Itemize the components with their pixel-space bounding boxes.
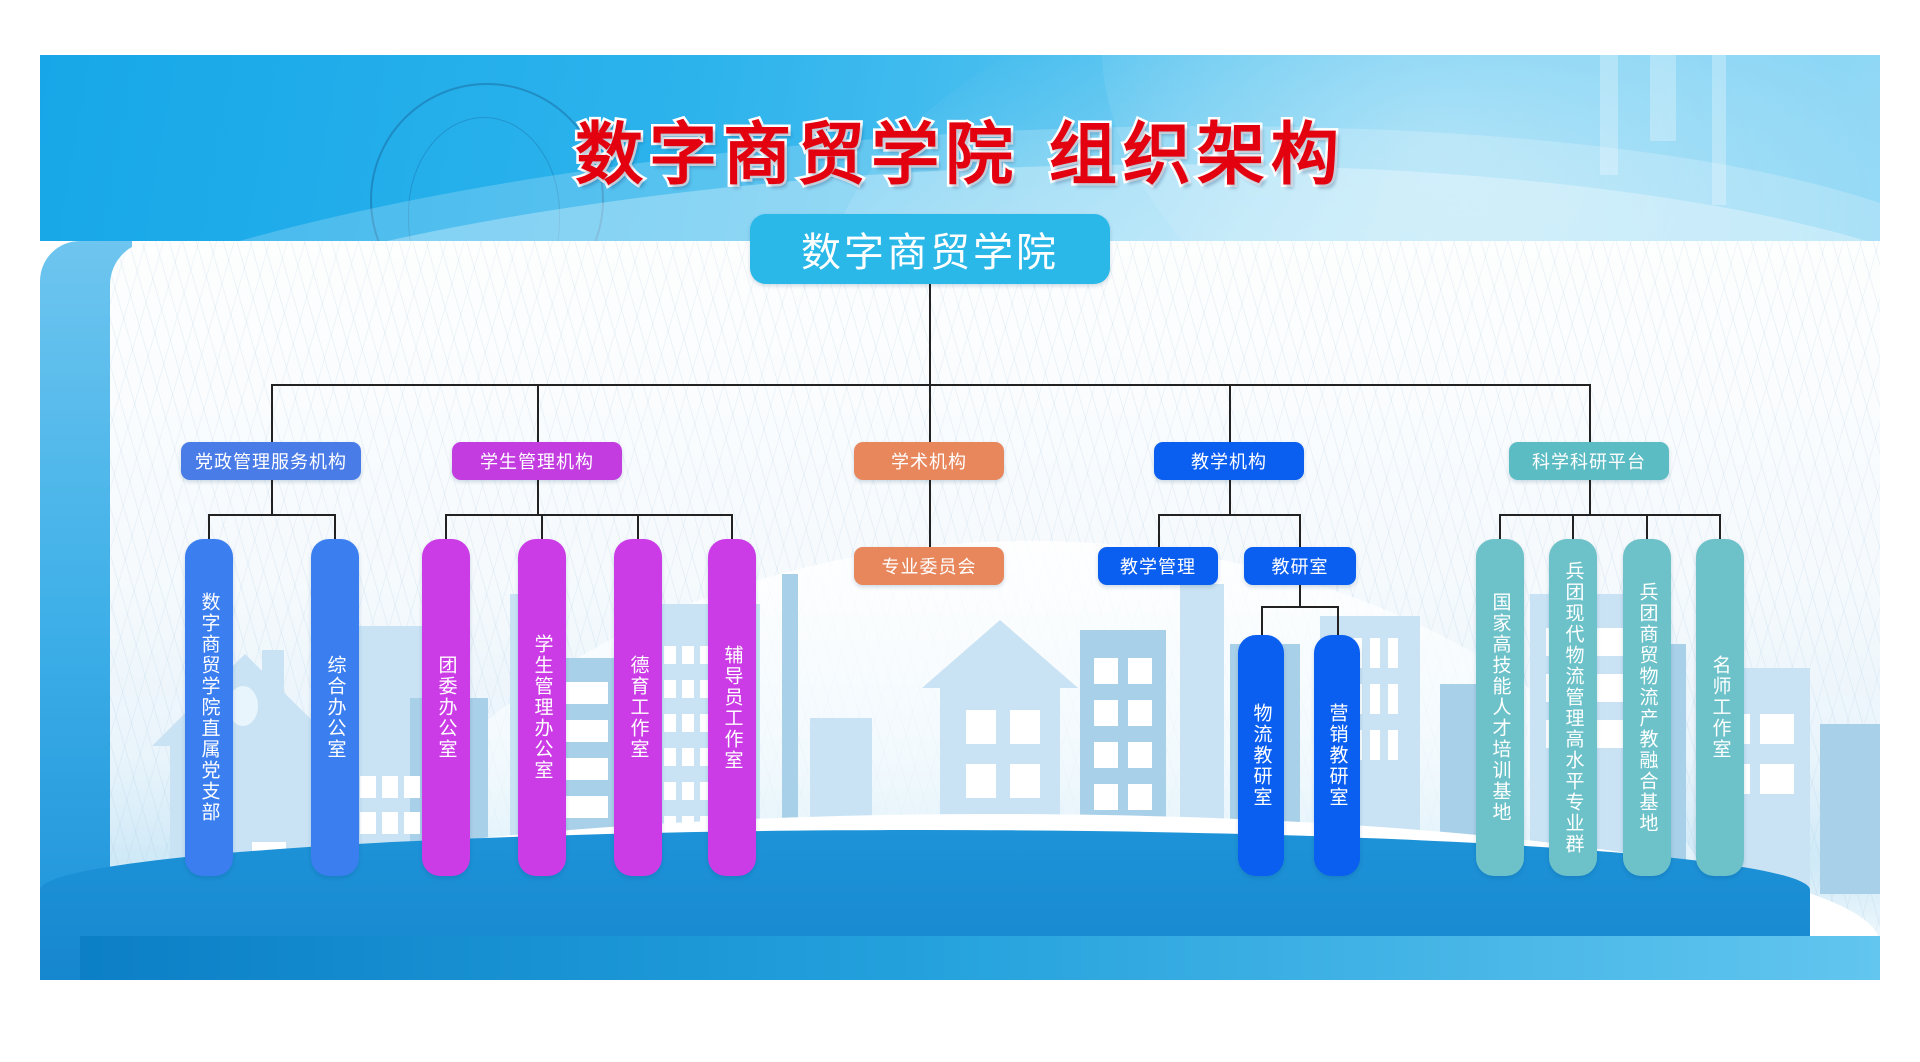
connector-b1-stem xyxy=(271,480,273,515)
org-node-research-platform[interactable]: 科学科研平台 xyxy=(1509,442,1669,480)
org-node-logistics-research[interactable]: 物流教研室 xyxy=(1238,635,1284,876)
connector-b4c2c1-drop xyxy=(1261,606,1263,635)
connector-drop-b5 xyxy=(1589,384,1591,442)
org-node-root[interactable]: 数字商贸学院 xyxy=(750,214,1110,284)
org-node-academic[interactable]: 学术机构 xyxy=(854,442,1004,480)
connector-b4c2-stem xyxy=(1299,585,1301,607)
org-node-general-office[interactable]: 综合办公室 xyxy=(311,539,359,876)
connector-b5c2-drop xyxy=(1572,514,1574,539)
org-node-teaching-management[interactable]: 教学管理 xyxy=(1098,547,1218,585)
connector-b2c3-drop xyxy=(637,514,639,539)
org-node-teaching[interactable]: 教学机构 xyxy=(1154,442,1304,480)
org-node-teaching-research-section[interactable]: 教研室 xyxy=(1244,547,1356,585)
connector-b5c3-drop xyxy=(1646,514,1648,539)
connector-b2c1-drop xyxy=(445,514,447,539)
connector-b4c2-drop xyxy=(1299,514,1301,547)
org-node-logistics-specialty-group[interactable]: 兵团现代物流管理高水平专业群 xyxy=(1549,539,1597,876)
connector-drop-b4 xyxy=(1229,384,1231,442)
connector-b1c2-drop xyxy=(334,514,336,539)
connector-drop-b2 xyxy=(537,384,539,442)
connector-b4c2-bus xyxy=(1261,606,1339,608)
org-node-industry-education-base[interactable]: 兵团商贸物流产教融合基地 xyxy=(1623,539,1671,876)
connector-b5-bus xyxy=(1499,514,1720,516)
connector-b4-stem xyxy=(1229,480,1231,515)
org-node-counselor-studio[interactable]: 辅导员工作室 xyxy=(708,539,756,876)
org-node-master-teacher-studio[interactable]: 名师工作室 xyxy=(1696,539,1744,876)
org-node-professional-committee[interactable]: 专业委员会 xyxy=(854,547,1004,585)
org-chart: 数字商贸学院 党政管理服务机构 学生管理机构 学术机构 教学机构 科学科研平台 … xyxy=(40,55,1880,980)
connector-b5c4-drop xyxy=(1719,514,1721,539)
connector-b1c1-drop xyxy=(208,514,210,539)
org-node-party-admin[interactable]: 党政管理服务机构 xyxy=(181,442,361,480)
org-node-party-branch[interactable]: 数字商贸学院直属党支部 xyxy=(185,539,233,876)
connector-root-down xyxy=(929,284,931,385)
connector-b4-bus xyxy=(1158,514,1300,516)
org-node-national-skills-base[interactable]: 国家高技能人才培训基地 xyxy=(1476,539,1524,876)
connector-b2-stem xyxy=(537,480,539,515)
org-node-student-affairs-office[interactable]: 学生管理办公室 xyxy=(518,539,566,876)
connector-b3-stem xyxy=(929,480,931,547)
org-node-marketing-research[interactable]: 营销教研室 xyxy=(1314,635,1360,876)
connector-b2c4-drop xyxy=(731,514,733,539)
connector-drop-b1 xyxy=(271,384,273,442)
connector-b2-bus xyxy=(445,514,733,516)
connector-b5c1-drop xyxy=(1499,514,1501,539)
connector-b5-stem xyxy=(1589,480,1591,515)
connector-b1-bus xyxy=(208,514,335,516)
org-node-youth-league-office[interactable]: 团委办公室 xyxy=(422,539,470,876)
connector-b2c2-drop xyxy=(541,514,543,539)
connector-drop-b3 xyxy=(929,384,931,442)
org-node-student-admin[interactable]: 学生管理机构 xyxy=(452,442,622,480)
connector-b4c2c2-drop xyxy=(1337,606,1339,635)
org-chart-poster: 数字商贸学院 组织架构 xyxy=(40,55,1880,980)
org-node-moral-education-studio[interactable]: 德育工作室 xyxy=(614,539,662,876)
connector-b4c1-drop xyxy=(1158,514,1160,547)
